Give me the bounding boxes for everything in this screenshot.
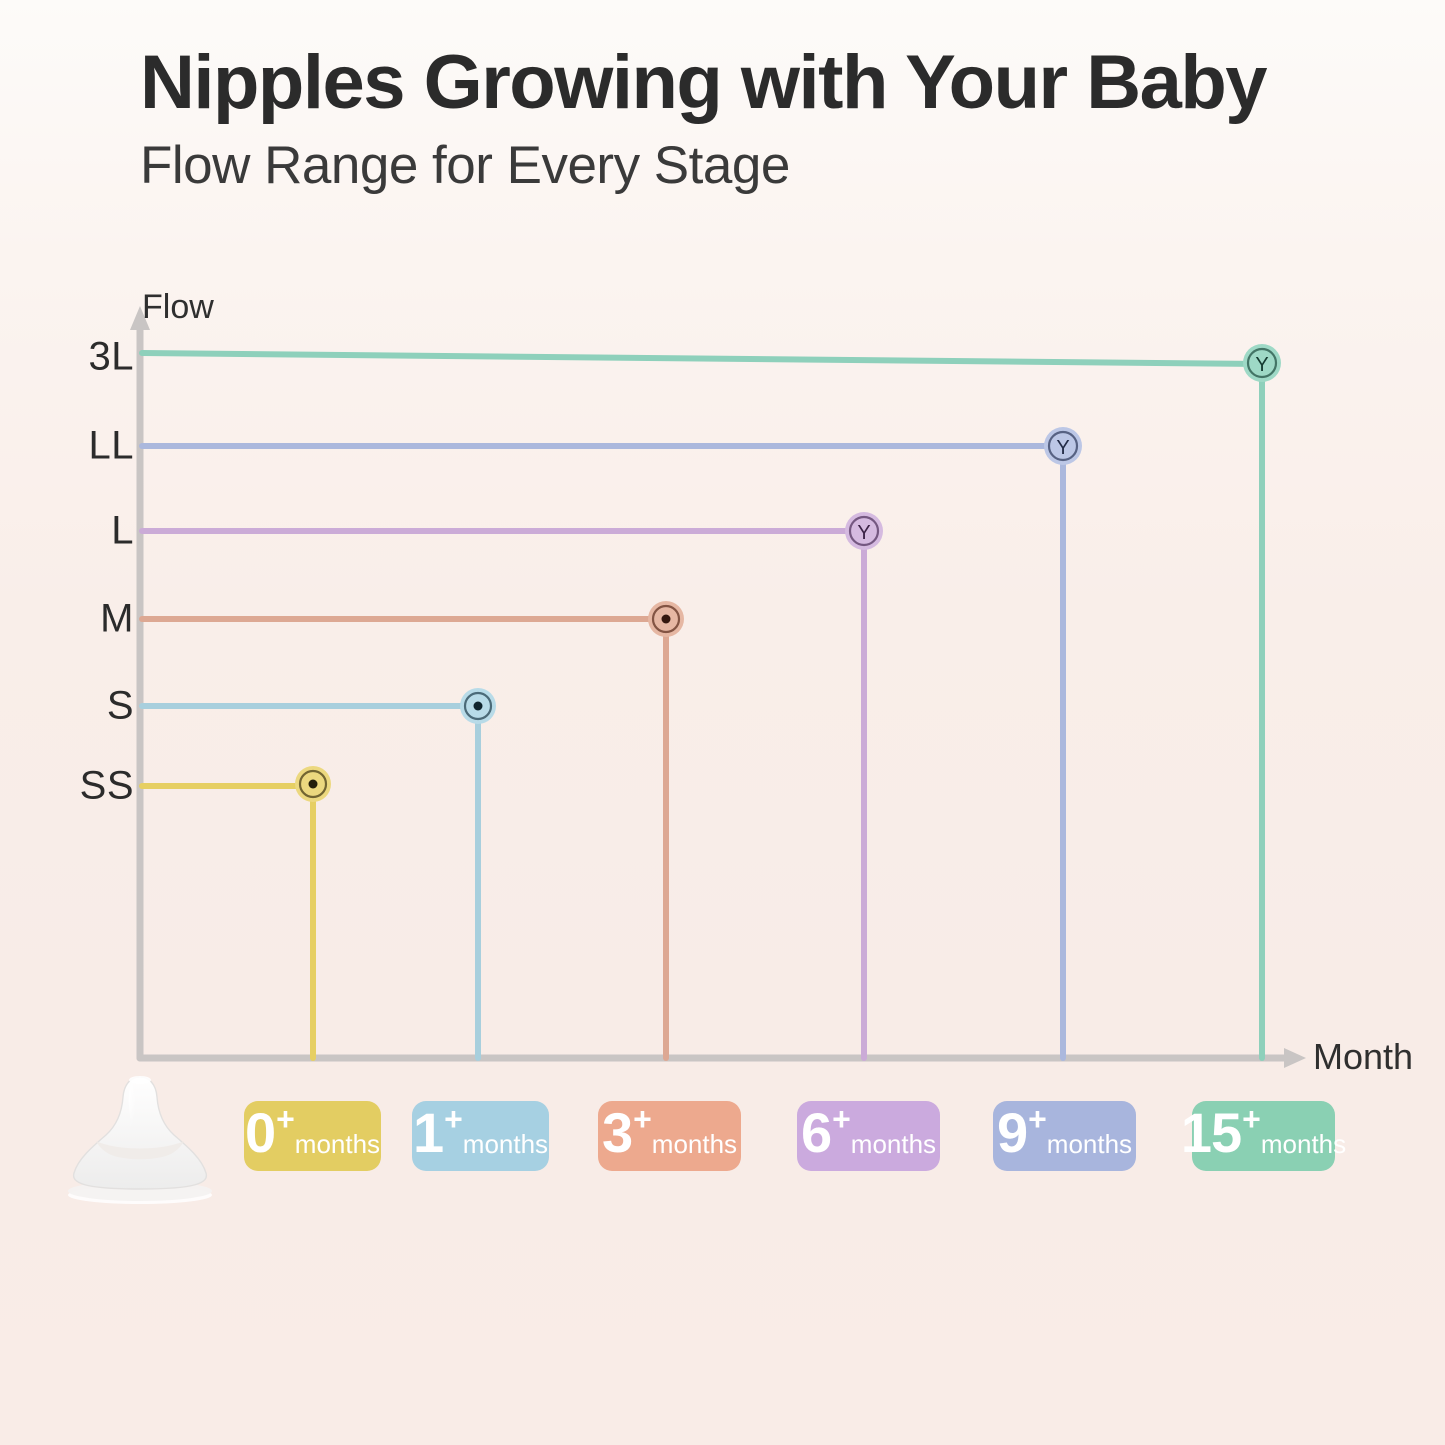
legend-badge-0-unit: months — [295, 1131, 380, 1157]
y-tick-l: L — [111, 509, 134, 554]
legend-badge-1-number: 1 — [413, 1105, 443, 1161]
legend-badge-6-plus: + — [832, 1103, 851, 1135]
y-tick-ss: SS — [80, 764, 134, 809]
axis-lines — [130, 306, 1306, 1068]
legend-badge-0-months[interactable]: 0 + months — [244, 1101, 381, 1171]
series-l-marker-glyph: Y — [857, 522, 870, 544]
y-tick-3l: 3L — [89, 335, 135, 380]
series-ll-marker-glyph: Y — [1056, 437, 1069, 459]
legend-badge-9-plus: + — [1028, 1103, 1047, 1135]
legend-badge-15-number: 15 — [1181, 1105, 1241, 1161]
y-axis-title: Flow — [142, 288, 214, 327]
series-s[interactable] — [142, 688, 496, 1058]
series-m-marker-dot — [662, 615, 671, 624]
legend-badge-6-months[interactable]: 6 + months — [797, 1101, 940, 1171]
legend-badge-1-plus: + — [444, 1103, 463, 1135]
legend-badge-6-number: 6 — [801, 1105, 831, 1161]
series-s-marker-dot — [474, 702, 483, 711]
y-tick-m: M — [100, 597, 134, 642]
series-m[interactable] — [142, 601, 684, 1058]
series-3l-marker-glyph: Y — [1255, 354, 1268, 376]
y-tick-ll: LL — [89, 424, 135, 469]
legend-badge-15-plus: + — [1242, 1103, 1261, 1135]
x-axis-arrow-icon — [1284, 1048, 1306, 1068]
y-tick-s: S — [107, 684, 134, 729]
legend-badge-0-plus: + — [276, 1103, 295, 1135]
series-3l-horizontal — [142, 353, 1262, 364]
series-ll[interactable]: Y — [142, 427, 1082, 1058]
legend-badge-3-plus: + — [633, 1103, 652, 1135]
x-axis-title: Month — [1313, 1036, 1413, 1078]
legend-badge-3-unit: months — [652, 1131, 737, 1157]
legend-badge-3-number: 3 — [602, 1105, 632, 1161]
flow-chart-plot: Y Y Y — [0, 0, 1445, 1445]
legend-badge-15-unit: months — [1261, 1131, 1346, 1157]
legend-badge-1-months[interactable]: 1 + months — [412, 1101, 549, 1171]
legend-badge-9-unit: months — [1047, 1131, 1132, 1157]
nipple-product-image — [68, 1076, 212, 1204]
legend-badge-15-months[interactable]: 15 + months — [1192, 1101, 1335, 1171]
series-ss-marker-dot — [309, 780, 318, 789]
legend-badge-0-number: 0 — [245, 1105, 275, 1161]
legend-badge-9-months[interactable]: 9 + months — [993, 1101, 1136, 1171]
legend-badge-3-months[interactable]: 3 + months — [598, 1101, 741, 1171]
series-ss[interactable] — [142, 766, 331, 1058]
legend-badge-9-number: 9 — [997, 1105, 1027, 1161]
legend-badge-6-unit: months — [851, 1131, 936, 1157]
legend-badge-1-unit: months — [463, 1131, 548, 1157]
